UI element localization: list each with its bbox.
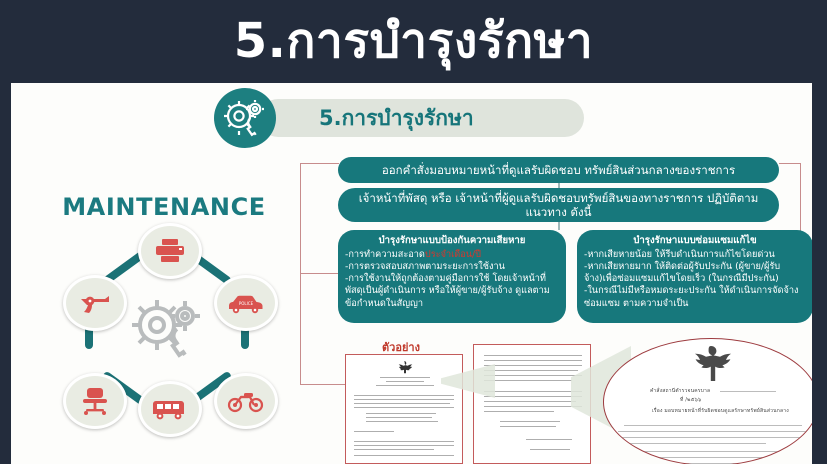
slide-canvas: 5.การบำรุงรักษา ออกคำสั่งมอบหมายหน้าที่ด… [11,83,812,464]
garuda-emblem-icon [393,360,415,376]
magnified-doc-number: ที่ /๒๕๖๖ [680,396,701,404]
node-revolver [63,275,127,331]
document-thumbnail [345,354,463,464]
doc-text-line [376,385,434,386]
doc-text-line [484,380,572,381]
panel-prevent-line-3: -การใช้งานให้ถูกต้องตามคู่มือการใช้ โดยเ… [345,273,559,310]
doc-text-line [354,399,454,400]
doc-text-line [484,401,576,402]
magnified-document: คำสั่งสถานีตำรวจนครบาล ที่ /๒๕๖๖ เรื่อง … [603,338,812,464]
node-van [138,381,202,437]
panel-prevent-line-1-text: -การทำความสะอาด [345,249,425,260]
flow-box-assign: ออกคำสั่งมอบหมายหน้าที่ดูแลรับผิดชอบ ทรั… [338,157,779,183]
gear-wrench-icon [214,88,276,148]
panel-repair-line-1: -หากเสียหายน้อย ให้รีบดำเนินการแก้ไขโดยด… [584,249,806,261]
doc-text-line [386,381,424,382]
doc-text-line [354,441,454,442]
connector-rail-top [300,163,339,164]
maintenance-title: MAINTENANCE [33,193,295,221]
node-police-car: POLICE [214,275,278,331]
connector-rail-bottom [300,384,346,385]
panel-prevent-highlight: ประจำเดือน/ปี [425,249,481,260]
garuda-emblem-icon [683,344,739,384]
flow-box-duty: เจ้าหน้าที่พัสดุ หรือ เจ้าหน้าที่ผู้ดูแล… [338,188,779,222]
doc-text-line [616,437,808,438]
panel-prevent: บำรุงรักษาแบบป้องกันความเสียหาย -การทำคว… [338,230,566,323]
doc-text-line [500,426,556,427]
doc-text-line [484,355,582,356]
doc-text-line [354,403,450,404]
doc-text-line [380,377,430,378]
connector-rail-mid [300,273,339,274]
doc-text-line [354,431,394,432]
panel-repair-line-3: -ในกรณีไม่มีหรือหมดระยะประกัน ให้ดำเนินก… [584,285,806,309]
doc-text-line [616,443,766,444]
doc-text-line [634,451,806,452]
doc-text-line [484,411,554,412]
panel-prevent-line-1: -การทำความสะอาดประจำเดือน/ปี [345,249,559,261]
magnified-doc-title: คำสั่งสถานีตำรวจนครบาล [650,387,710,395]
doc-text-line [526,439,572,440]
doc-text-line [354,455,454,456]
doc-text-line [484,365,582,366]
gear-wrench-icon [129,295,207,361]
magnified-doc-subject: เรื่อง มอบหมายหน้าที่รับผิดชอบดูแลรักษาท… [652,407,789,415]
doc-text-line [366,421,438,422]
doc-text-line [630,457,798,458]
panel-prevent-line-2: -การตรวจสอบสภาพตามระยะการใช้งาน [345,261,559,273]
panel-repair: บำรุงรักษาแบบซ่อมแซมแก้ไข -หากเสียหายน้อ… [577,230,812,323]
doc-text-line [484,391,582,392]
svg-text:POLICE: POLICE [239,301,254,306]
doc-text-line [354,449,434,450]
doc-text-line [484,370,578,371]
node-motorcycle [214,373,278,429]
doc-text-line [354,395,454,396]
panel-prevent-heading: บำรุงรักษาแบบป้องกันความเสียหาย [345,235,559,248]
node-office-chair [63,373,127,429]
doc-text-line [624,425,802,426]
doc-text-line [484,360,582,361]
header-title: 5.การบำรุงรักษา [319,99,574,137]
page-title: 5.การบำรุงรักษา [0,0,827,82]
panel-repair-heading: บำรุงรักษาแบบซ่อมแซมแก้ไข [584,235,806,248]
doc-text-line [354,407,454,408]
connector-line-vertical [558,222,560,230]
panel-repair-line-2: -หากเสียหายมาก ให้ติดต่อผู้รับประกัน (ผู… [584,261,806,285]
doc-text-line [720,391,776,392]
doc-text-line [366,413,436,414]
connector-rail-right-top [779,163,801,164]
doc-text-line [484,406,582,407]
doc-text-line [618,431,808,432]
doc-text-line [354,445,454,446]
doc-text-line [484,396,582,397]
doc-text-line [530,449,570,450]
doc-text-line [500,421,560,422]
node-printer [138,223,202,279]
maintenance-wheel: POLICE [51,223,283,431]
doc-text-line [366,417,432,418]
doc-text-line [484,375,582,376]
header-pill: 5.การบำรุงรักษา [259,99,584,137]
